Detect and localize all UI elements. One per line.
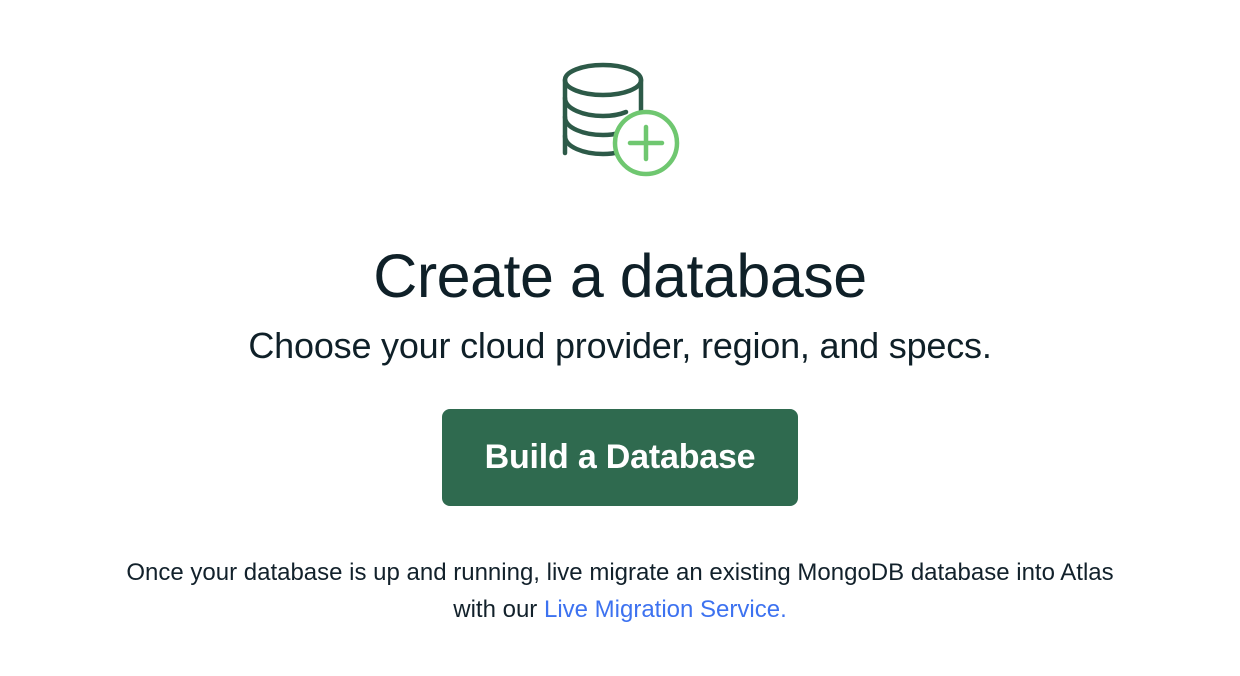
cylinder-layer-arc-2 xyxy=(565,117,620,135)
cylinder-layer-arc-3 xyxy=(565,136,620,154)
database-add-icon xyxy=(550,58,690,188)
database-add-icon-svg xyxy=(550,58,690,188)
build-a-database-button[interactable]: Build a Database xyxy=(442,409,798,506)
cylinder-top-ellipse xyxy=(565,65,641,95)
live-migration-service-link[interactable]: Live Migration Service. xyxy=(544,596,787,623)
page-subtitle: Choose your cloud provider, region, and … xyxy=(248,326,991,366)
page-title: Create a database xyxy=(373,244,866,308)
cylinder-layer-arc-1 xyxy=(565,98,626,116)
create-database-empty-state: Create a database Choose your cloud prov… xyxy=(0,0,1240,676)
migration-hint: Once your database is up and running, li… xyxy=(110,554,1130,628)
